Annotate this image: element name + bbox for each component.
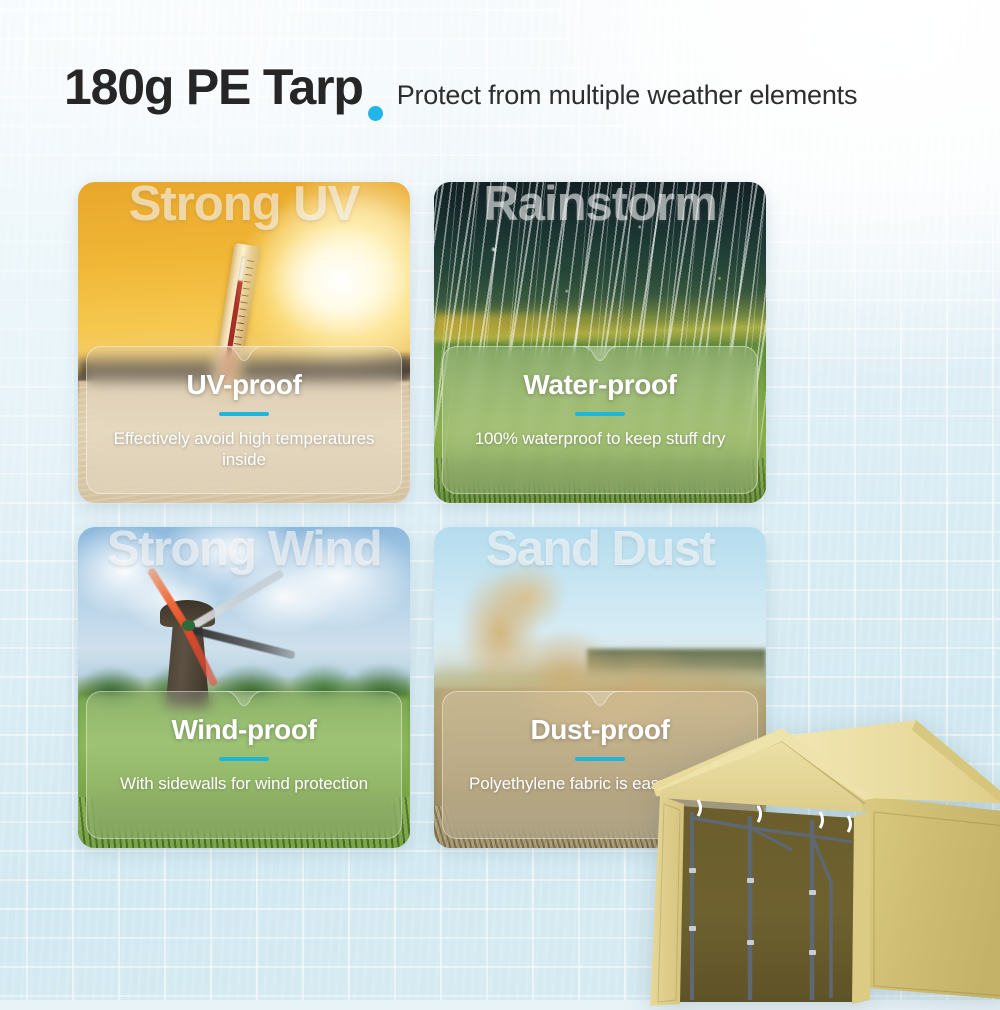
page-subtitle: Protect from multiple weather elements <box>397 82 858 109</box>
tent-front-flap-right <box>852 812 870 1004</box>
card-label-panel: Wind-proof With sidewalls for wind prote… <box>86 691 402 839</box>
tent-front-flap-left <box>650 796 684 1006</box>
product-carport-tent <box>616 700 1000 1010</box>
card-description: With sidewalls for wind protection <box>110 773 378 794</box>
card-label-panel: UV-proof Effectively avoid high temperat… <box>86 346 402 494</box>
card-label-panel: Water-proof 100% waterproof to keep stuf… <box>442 346 758 494</box>
panel-notch-icon <box>568 346 632 364</box>
card-title: Water-proof <box>523 371 676 399</box>
tent-side-wall <box>868 796 1000 1000</box>
feature-card-uv-proof: Strong UV UV-proof Effectively avoid hig… <box>78 182 410 503</box>
page-title: 180g PE Tarp <box>64 62 363 112</box>
header: 180g PE Tarp Protect from multiple weath… <box>0 62 1000 124</box>
card-title: UV-proof <box>186 371 301 399</box>
card-divider <box>219 412 269 416</box>
feature-card-wind-proof: Strong Wind Wind-proof With sidewalls fo… <box>78 527 410 848</box>
feature-card-water-proof: Rainstorm Water-proof 100% waterproof to… <box>434 182 766 503</box>
card-description: 100% waterproof to keep stuff dry <box>465 428 736 449</box>
card-divider <box>575 412 625 416</box>
panel-notch-icon <box>212 691 276 709</box>
panel-notch-icon <box>212 346 276 364</box>
card-description: Effectively avoid high temperatures insi… <box>87 428 401 471</box>
card-divider <box>219 757 269 761</box>
card-title: Wind-proof <box>171 716 316 744</box>
cyan-dot-icon <box>368 106 383 121</box>
